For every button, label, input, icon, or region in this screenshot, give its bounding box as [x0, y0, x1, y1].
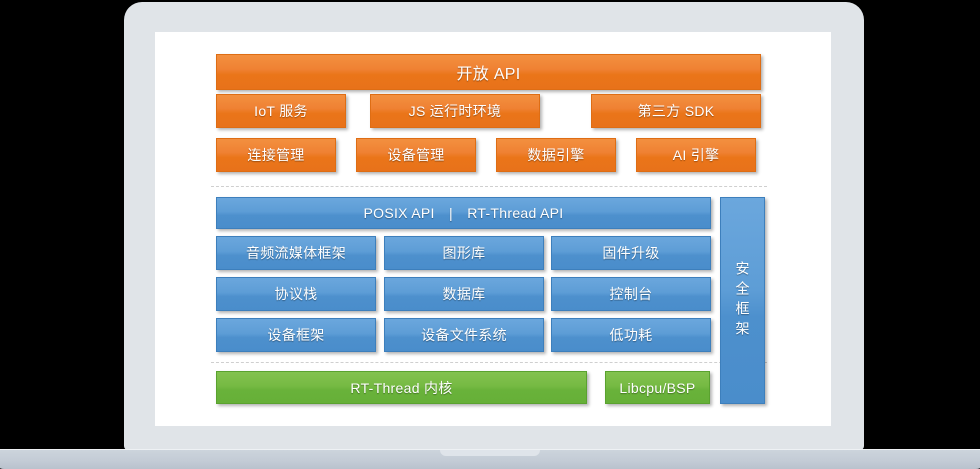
- box-open-api[interactable]: 开放 API: [216, 54, 761, 90]
- box-data-engine[interactable]: 数据引擎: [496, 138, 616, 172]
- box-third-party-sdk[interactable]: 第三方 SDK: [591, 94, 761, 128]
- box-posix-rtthread-api[interactable]: POSIX API | RT-Thread API: [216, 197, 711, 229]
- screenshot-stage: 开放 API IoT 服务 JS 运行时环境 第三方 SDK 连接管理 设备管理…: [0, 0, 980, 469]
- box-rtthread-kernel[interactable]: RT-Thread 内核: [216, 371, 587, 404]
- box-database[interactable]: 数据库: [384, 277, 544, 311]
- box-graphics-library[interactable]: 图形库: [384, 236, 544, 270]
- box-device-framework[interactable]: 设备框架: [216, 318, 376, 352]
- box-audio-streaming-framework[interactable]: 音频流媒体框架: [216, 236, 376, 270]
- lower-divider: [211, 362, 767, 363]
- box-js-runtime[interactable]: JS 运行时环境: [370, 94, 540, 128]
- box-device-file-system[interactable]: 设备文件系统: [384, 318, 544, 352]
- laptop-trackpad-notch: [440, 450, 540, 456]
- box-low-power[interactable]: 低功耗: [551, 318, 711, 352]
- box-protocol-stack[interactable]: 协议栈: [216, 277, 376, 311]
- box-console[interactable]: 控制台: [551, 277, 711, 311]
- box-firmware-upgrade[interactable]: 固件升级: [551, 236, 711, 270]
- box-connection-management[interactable]: 连接管理: [216, 138, 336, 172]
- box-ai-engine[interactable]: AI 引擎: [636, 138, 756, 172]
- laptop-screen: 开放 API IoT 服务 JS 运行时环境 第三方 SDK 连接管理 设备管理…: [155, 32, 831, 426]
- box-iot-service[interactable]: IoT 服务: [216, 94, 346, 128]
- box-libcpu-bsp[interactable]: Libcpu/BSP: [605, 371, 710, 404]
- rt-thread-architecture-diagram: 开放 API IoT 服务 JS 运行时环境 第三方 SDK 连接管理 设备管理…: [155, 32, 831, 426]
- box-security-framework[interactable]: 安全框架: [720, 197, 765, 404]
- box-device-management[interactable]: 设备管理: [356, 138, 476, 172]
- upper-divider: [211, 186, 767, 187]
